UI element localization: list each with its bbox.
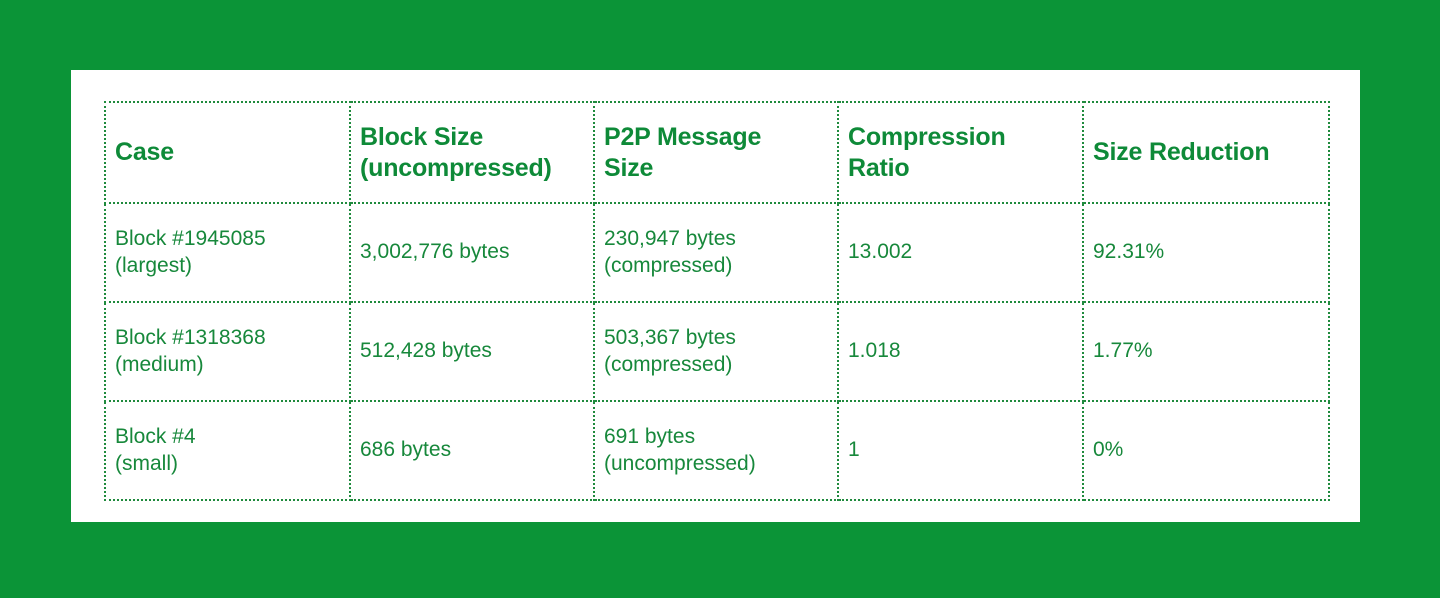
cell-ratio-value: 13.002 [848, 239, 1072, 265]
column-header-p2p-line-1: P2P Message [604, 122, 827, 153]
column-header-size-reduction-line-1: Size Reduction [1093, 137, 1318, 168]
header-row: Case Block Size (uncompressed) P2P Messa… [105, 102, 1329, 203]
cell-p2p-line-1: 230,947 bytes [604, 226, 827, 252]
cell-case-line-2: (small) [115, 451, 339, 477]
cell-compression-ratio: 13.002 [838, 203, 1083, 302]
cell-p2p-size: 691 bytes (uncompressed) [594, 401, 838, 500]
column-header-size-reduction: Size Reduction [1083, 102, 1329, 203]
cell-reduction-value: 1.77% [1093, 338, 1318, 364]
page-background: Case Block Size (uncompressed) P2P Messa… [0, 0, 1440, 598]
column-header-block-size-line-1: Block Size [360, 122, 583, 153]
column-header-ratio-line-1: Compression [848, 122, 1072, 153]
cell-ratio-value: 1.018 [848, 338, 1072, 364]
cell-block-size: 686 bytes [350, 401, 594, 500]
column-header-compression-ratio: Compression Ratio [838, 102, 1083, 203]
cell-case-line-1: Block #4 [115, 424, 339, 450]
column-header-block-size-line-2: (uncompressed) [360, 153, 583, 184]
cell-p2p-line-2: (compressed) [604, 253, 827, 279]
cell-block-size: 3,002,776 bytes [350, 203, 594, 302]
cell-p2p-size: 503,367 bytes (compressed) [594, 302, 838, 401]
cell-case: Block #1945085 (largest) [105, 203, 350, 302]
table-row: Block #1945085 (largest) 3,002,776 bytes… [105, 203, 1329, 302]
table-header: Case Block Size (uncompressed) P2P Messa… [105, 102, 1329, 203]
cell-p2p-line-1: 691 bytes [604, 424, 827, 450]
compression-comparison-table: Case Block Size (uncompressed) P2P Messa… [104, 101, 1330, 501]
cell-case-line-1: Block #1945085 [115, 226, 339, 252]
cell-compression-ratio: 1.018 [838, 302, 1083, 401]
column-header-p2p-message-size: P2P Message Size [594, 102, 838, 203]
table-body: Block #1945085 (largest) 3,002,776 bytes… [105, 203, 1329, 500]
cell-case-line-1: Block #1318368 [115, 325, 339, 351]
cell-size-reduction: 0% [1083, 401, 1329, 500]
table-row: Block #4 (small) 686 bytes 691 bytes (un… [105, 401, 1329, 500]
cell-case-line-2: (largest) [115, 253, 339, 279]
cell-p2p-line-2: (uncompressed) [604, 451, 827, 477]
cell-block-size-line-1: 3,002,776 bytes [360, 239, 583, 265]
column-header-ratio-line-2: Ratio [848, 153, 1072, 184]
cell-size-reduction: 92.31% [1083, 203, 1329, 302]
cell-reduction-value: 92.31% [1093, 239, 1318, 265]
column-header-case-line-1: Case [115, 137, 339, 168]
cell-size-reduction: 1.77% [1083, 302, 1329, 401]
column-header-p2p-line-2: Size [604, 153, 827, 184]
table-wrapper: Case Block Size (uncompressed) P2P Messa… [104, 101, 1328, 491]
cell-block-size-line-1: 512,428 bytes [360, 338, 583, 364]
cell-block-size: 512,428 bytes [350, 302, 594, 401]
cell-ratio-value: 1 [848, 437, 1072, 463]
cell-reduction-value: 0% [1093, 437, 1318, 463]
table-card: Case Block Size (uncompressed) P2P Messa… [71, 70, 1360, 522]
column-header-case: Case [105, 102, 350, 203]
cell-p2p-line-1: 503,367 bytes [604, 325, 827, 351]
column-header-block-size: Block Size (uncompressed) [350, 102, 594, 203]
cell-case-line-2: (medium) [115, 352, 339, 378]
cell-p2p-line-2: (compressed) [604, 352, 827, 378]
cell-case: Block #4 (small) [105, 401, 350, 500]
table-row: Block #1318368 (medium) 512,428 bytes 50… [105, 302, 1329, 401]
cell-block-size-line-1: 686 bytes [360, 437, 583, 463]
cell-p2p-size: 230,947 bytes (compressed) [594, 203, 838, 302]
cell-compression-ratio: 1 [838, 401, 1083, 500]
cell-case: Block #1318368 (medium) [105, 302, 350, 401]
